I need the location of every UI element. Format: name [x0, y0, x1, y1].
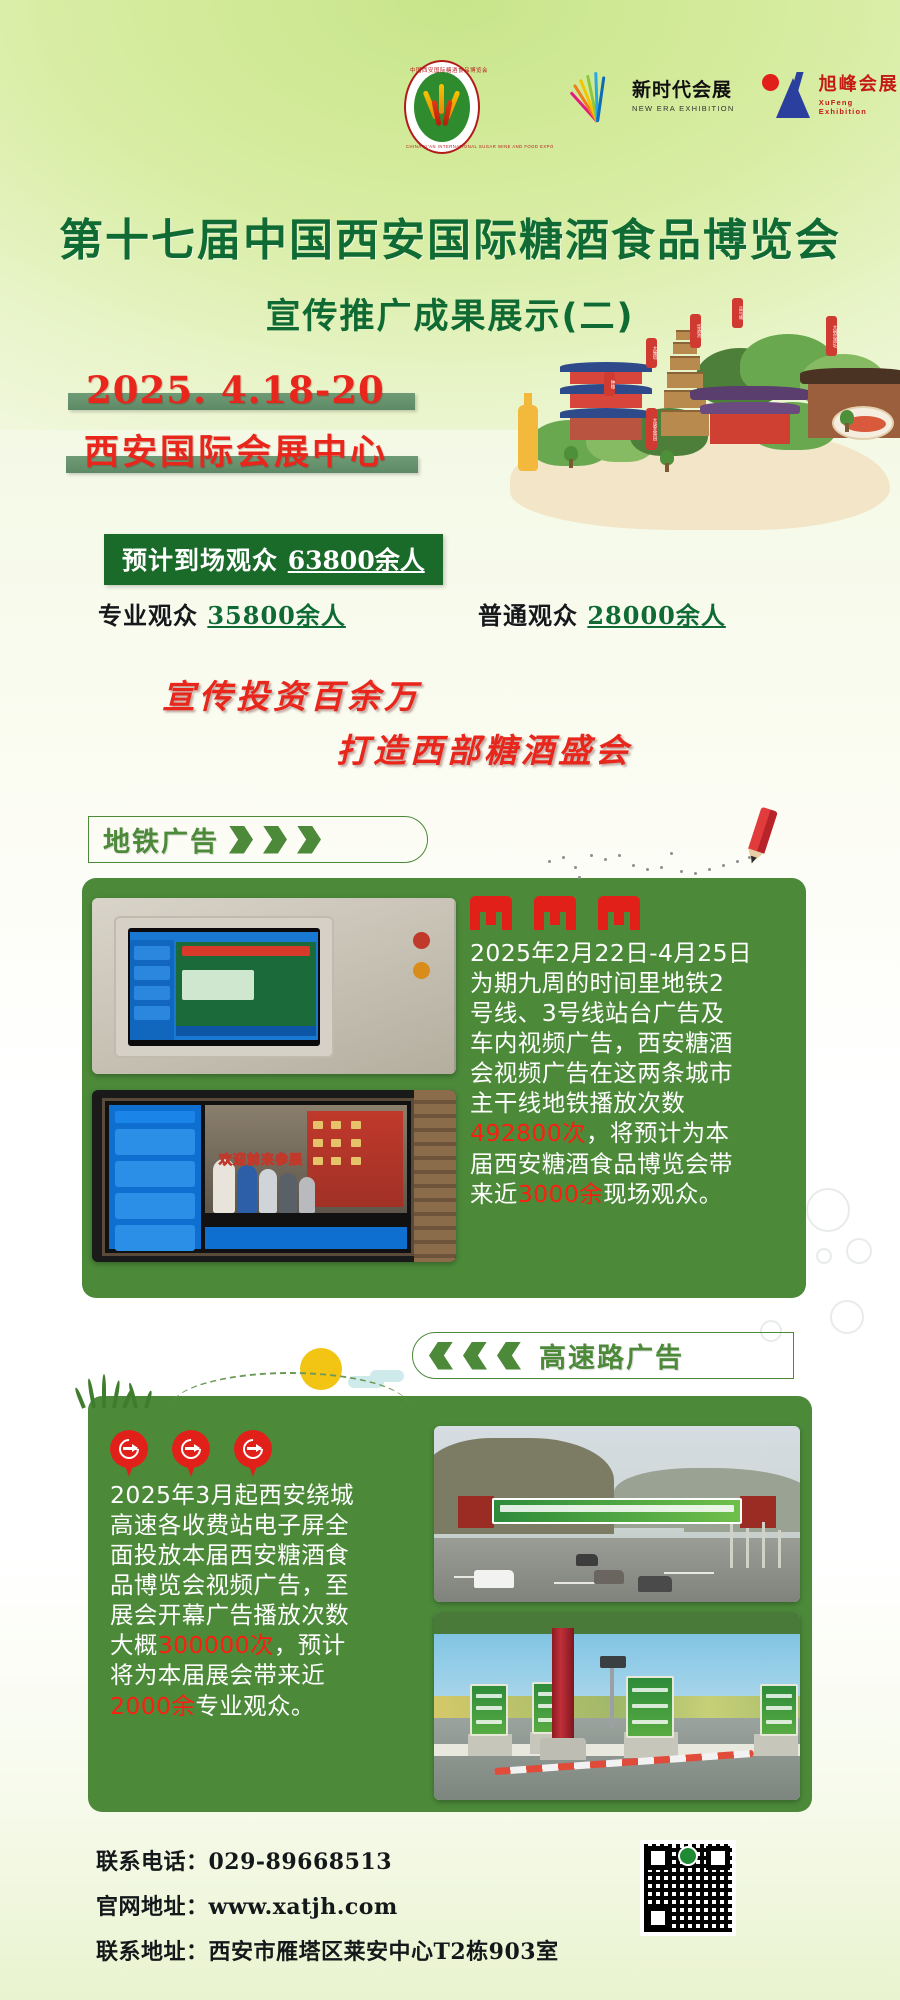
slogan-line-1: 宣传投资百余万: [162, 670, 421, 718]
highway-exit-pin-icon: [172, 1430, 210, 1478]
highway-icon-row: [110, 1430, 272, 1478]
text-line: 2000余专业观众。: [110, 1691, 430, 1721]
contact-info: 联系电话：029-89668513 官网地址：www.xatjh.com 联系地…: [96, 1844, 559, 1979]
beverage-bottle-icon: [518, 405, 538, 471]
partner-logo-en: XuFeng Exhibition: [819, 98, 900, 116]
event-venue-text: 西安国际会展中心: [84, 432, 388, 473]
text-fragment: ，将预计为本: [586, 1119, 729, 1147]
text-fragment: 来近: [470, 1180, 518, 1208]
qr-code[interactable]: [640, 1840, 736, 1936]
highway-exit-pin-icon: [110, 1430, 148, 1478]
partner-logo-en: NEW ERA EXHIBITION: [632, 104, 735, 113]
bubble-decoration: [816, 1248, 832, 1264]
highway-ad-description: 2025年3月起西安绕城 高速各收费站电子屏全 面投放本届西安糖酒食 品博览会视…: [110, 1480, 430, 1721]
text-line: 会视频广告在这两条城市: [470, 1058, 800, 1088]
general-visitors-label: 普通观众: [478, 601, 578, 630]
page-subtitle: 宣传推广成果展示(二): [0, 288, 900, 339]
metro-platform-screen-photo: 欢迎前来参展: [92, 1090, 456, 1262]
professional-visitors-label: 专业观众: [98, 601, 198, 630]
video-overlay-text: 欢迎前来参展: [219, 1149, 303, 1168]
landmark-tag: 钟楼: [604, 372, 615, 396]
chevron-right-icon: [297, 826, 321, 854]
text-line: 主干线地铁播放次数: [470, 1088, 800, 1118]
dotted-trail-decoration: [548, 850, 768, 884]
chevron-right-icon: [229, 826, 253, 854]
landmark-tag: 大雁塔: [646, 338, 657, 368]
text-line: 车内视频广告，西安糖酒: [470, 1028, 800, 1058]
page-title: 第十七届中国西安国际糖酒食品博览会: [0, 204, 900, 268]
highlight-number: 300000次: [158, 1631, 274, 1659]
chevron-right-icon: [263, 826, 287, 854]
event-date: 2025. 4.18-20: [86, 368, 385, 412]
partner-logo-xufeng: 旭峰会展 XuFeng Exhibition: [760, 72, 900, 120]
metro-train-screen-photo: [92, 898, 456, 1074]
text-line: 来近3000余现场观众。: [470, 1179, 800, 1209]
chevron-left-icon: [497, 1342, 521, 1370]
highway-exit-pin-icon: [234, 1430, 272, 1478]
bubble-decoration: [806, 1188, 850, 1232]
professional-visitors: 专业观众 35800余人: [98, 596, 346, 631]
bubble-decoration: [846, 1238, 872, 1264]
text-line: 大概300000次，预计: [110, 1630, 430, 1660]
section-header-highway: 高速路广告: [412, 1332, 794, 1379]
contact-address: 联系地址：西安市雁塔区莱安中心T2栋903室: [96, 1934, 559, 1966]
daming-palace-icon: [690, 386, 810, 446]
metro-icon-row: [470, 896, 640, 930]
chevron-left-icon: [463, 1342, 487, 1370]
text-line: 高速各收费站电子屏全: [110, 1510, 430, 1540]
total-visitors-label: 预计到场观众: [122, 546, 278, 575]
event-date-text: 2025. 4.18-20: [86, 368, 385, 412]
slogan-line-2: 打造西部糖酒盛会: [336, 724, 632, 772]
text-line: 2025年2月22日-4月25日: [470, 938, 800, 968]
event-venue: 西安国际会展中心: [84, 424, 388, 475]
promo-poster: 中国西安国际糖酒食品博览会 CHINA XI'AN INTERNATIONAL …: [0, 0, 900, 2000]
landmark-tag: 大唐芙蓉园: [646, 408, 657, 450]
text-line: 号线、3号线站台广告及: [470, 998, 800, 1028]
text-line: 2025年3月起西安绕城: [110, 1480, 430, 1510]
text-line: 展会开幕广告播放次数: [110, 1600, 430, 1630]
total-visitors-value: 63800余人: [288, 546, 425, 575]
highlight-number: 2000余: [110, 1692, 195, 1720]
text-fragment: ，预计: [274, 1631, 346, 1659]
text-fragment: 专业观众。: [195, 1692, 315, 1720]
professional-visitors-value: 35800余人: [207, 601, 346, 630]
highlight-number: 3000余: [518, 1180, 603, 1208]
section-header-metro-label: 地铁广告: [103, 820, 219, 859]
partner-logo-cn: 旭峰会展: [819, 76, 900, 94]
metro-station-icon: [470, 896, 512, 930]
pencil-icon: [739, 805, 782, 870]
bubble-decoration: [830, 1300, 864, 1334]
text-line: 为期九周的时间里地铁2: [470, 968, 800, 998]
expo-seal-logo: 中国西安国际糖酒食品博览会 CHINA XI'AN INTERNATIONAL …: [396, 58, 488, 158]
fan-swoosh-icon: [572, 68, 626, 126]
metro-station-icon: [534, 896, 576, 930]
total-visitors-badge: 预计到场观众 63800余人: [104, 534, 443, 585]
toll-station-digital-screens-photo: [434, 1612, 800, 1800]
gantry-billboard: [458, 1496, 776, 1530]
metro-ad-description: 2025年2月22日-4月25日 为期九周的时间里地铁2 号线、3号线站台广告及…: [470, 938, 800, 1209]
partner-logo-cn: 新时代会展: [632, 81, 735, 100]
partner-logo-new-era: 新时代会展 NEW ERA EXHIBITION: [572, 68, 735, 126]
text-line: 将为本届展会带来近: [110, 1660, 430, 1690]
section-header-highway-label: 高速路广告: [539, 1336, 684, 1375]
contact-website[interactable]: 官网地址：www.xatjh.com: [96, 1889, 559, 1921]
text-fragment: 大概: [110, 1631, 158, 1659]
seal-cn-text: 中国西安国际糖酒食品博览会: [410, 66, 474, 74]
general-visitors: 普通观众 28000余人: [478, 596, 726, 631]
section-header-metro: 地铁广告: [88, 816, 428, 863]
text-line: 品博览会视频广告，至: [110, 1570, 430, 1600]
highlight-number: 492800次: [470, 1119, 586, 1147]
camera-pole-icon: [610, 1666, 614, 1728]
metro-station-icon: [598, 896, 640, 930]
text-line: 492800次，将预计为本: [470, 1118, 800, 1148]
chevron-left-icon: [429, 1342, 453, 1370]
seal-en-text: CHINA XI'AN INTERNATIONAL SUGAR WINE AND…: [406, 144, 478, 149]
text-line: 面投放本届西安糖酒食: [110, 1540, 430, 1570]
general-visitors-value: 28000余人: [587, 601, 726, 630]
xufeng-mark-icon: [760, 72, 813, 120]
highway-gantry-billboard-photo: [434, 1426, 800, 1602]
text-fragment: 现场观众。: [603, 1180, 723, 1208]
text-line: 届西安糖酒食品博览会带: [470, 1149, 800, 1179]
logo-row: 中国西安国际糖酒食品博览会 CHINA XI'AN INTERNATIONAL …: [0, 58, 900, 158]
contact-phone: 联系电话：029-89668513: [96, 1844, 559, 1876]
